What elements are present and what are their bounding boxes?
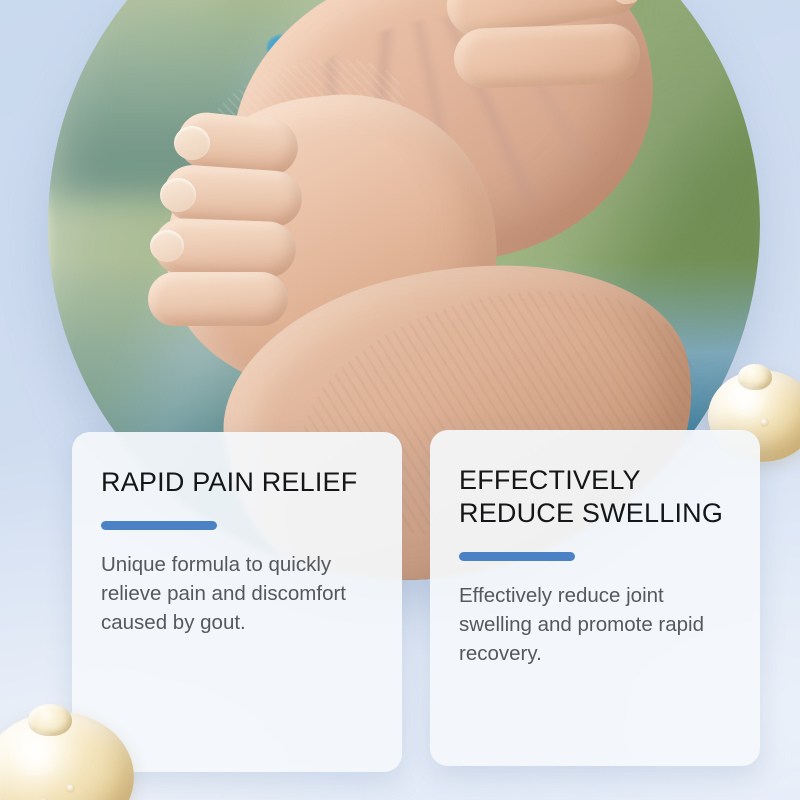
accent-bar	[101, 521, 217, 530]
feature-card-title: EFFECTIVELY REDUCE SWELLING	[459, 464, 732, 530]
finger-ring	[453, 23, 641, 89]
capsule-highlight	[2, 730, 68, 776]
capsule-bubble	[66, 784, 75, 793]
feature-card-body: Effectively reduce joint swelling and pr…	[459, 581, 729, 668]
lower-fingernail-3	[150, 230, 184, 262]
capsule-highlight	[722, 384, 770, 418]
lower-fingernail-1	[174, 126, 210, 160]
capsule-bubble	[760, 418, 769, 427]
feature-card-effectively-reduce-swelling[interactable]: EFFECTIVELY REDUCE SWELLING Effectively …	[430, 430, 760, 766]
feature-card-title: RAPID PAIN RELIEF	[101, 466, 374, 499]
lower-finger-4	[148, 272, 288, 326]
accent-bar	[459, 552, 575, 561]
lower-fingernail-2	[160, 178, 196, 212]
promo-poster: RAPID PAIN RELIEF Unique formula to quic…	[0, 0, 800, 800]
feature-card-rapid-pain-relief[interactable]: RAPID PAIN RELIEF Unique formula to quic…	[72, 432, 402, 772]
feature-card-body: Unique formula to quickly relieve pain a…	[101, 550, 371, 637]
